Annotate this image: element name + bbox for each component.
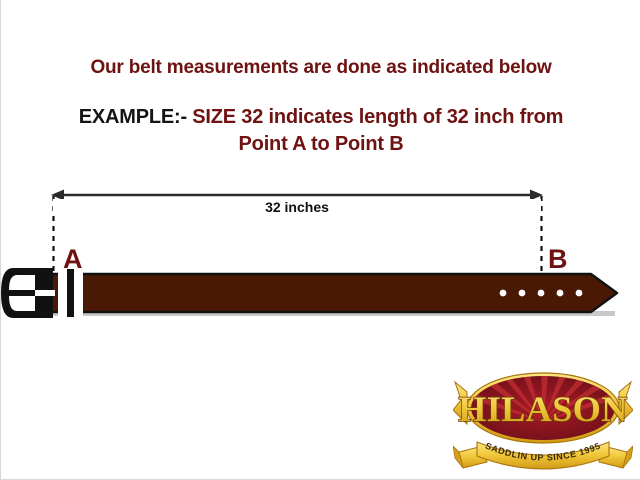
logo-brand-text: HILASON xyxy=(458,389,628,429)
belt-buckle xyxy=(1,268,55,318)
belt-keeper-bar xyxy=(67,269,74,317)
belt-hole xyxy=(557,290,564,297)
belt-size-diagram: Our belt measurements are done as indica… xyxy=(0,0,640,480)
buckle-opening-top xyxy=(9,275,35,290)
belt-keeper-left xyxy=(58,269,67,317)
buckle-prong xyxy=(35,290,55,296)
belt-strap xyxy=(25,274,617,312)
belt-illustration xyxy=(1,255,640,330)
hilason-logo: HILASON SADDLIN UP SINCE 1995 xyxy=(453,366,633,474)
belt-hole xyxy=(576,290,583,297)
belt-hole xyxy=(519,290,526,297)
dimension-label: 32 inches xyxy=(53,199,541,215)
logo-ribbon: SADDLIN UP SINCE 1995 xyxy=(453,441,633,469)
buckle-opening-bottom xyxy=(9,296,35,311)
belt-hole xyxy=(538,290,545,297)
belt-hole xyxy=(500,290,507,297)
belt-keeper-right xyxy=(74,269,83,317)
